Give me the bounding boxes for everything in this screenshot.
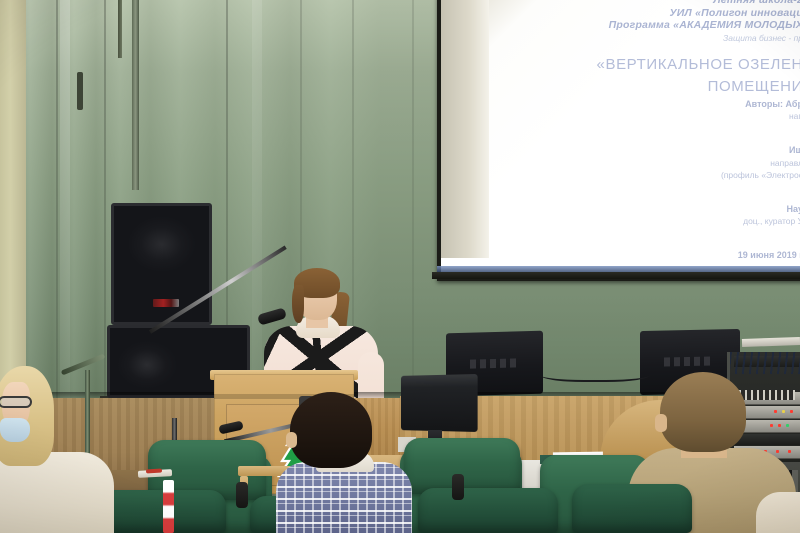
status-led [774, 410, 777, 413]
person-ear [286, 432, 297, 448]
slide-title-line-1: «ВЕРТИКАЛЬНОЕ ОЗЕЛЕН [441, 54, 800, 76]
curtain-highlight [252, 0, 262, 400]
status-led [776, 450, 779, 453]
curtain-beige-panel [0, 0, 26, 400]
slide-supervisor-line-1: направл [441, 157, 800, 169]
slide-title-line-2: ПОМЕЩЕНИ [441, 76, 800, 98]
rack-unit [734, 434, 800, 445]
slide-authors-sub: нап [441, 110, 800, 122]
status-led [770, 424, 773, 427]
face-mask [0, 418, 30, 442]
slide-advisor-line: доц., куратор У [441, 215, 800, 227]
status-led [786, 424, 789, 427]
desktop-monitor [401, 374, 478, 432]
presenter-hair-side [292, 285, 304, 323]
slide-date: 19 июня 2019 г [441, 249, 800, 262]
slide-subtitle: Защита бизнес - пр [441, 32, 800, 44]
chair-armrest [236, 482, 248, 508]
person-hair [290, 392, 372, 468]
rack-cabling [730, 352, 800, 374]
status-led [790, 410, 793, 413]
person-hair [660, 372, 746, 452]
wall-latch [77, 72, 83, 110]
curtain-fold [104, 0, 106, 400]
status-led [782, 410, 785, 413]
curtain-fold [56, 0, 58, 400]
audience-person-corner [756, 492, 800, 533]
status-led [788, 450, 791, 453]
striped-marker-pole [163, 480, 174, 533]
curtain-fold [412, 0, 414, 400]
projection-screen-bottom-edge [432, 272, 800, 279]
person-torso [276, 462, 412, 533]
eyeglasses-icon [0, 396, 32, 408]
status-led [778, 424, 781, 427]
curtain-highlight [60, 0, 70, 400]
slide-advisor-label: Нау [441, 203, 800, 216]
slide-supervisor-line-2: (профиль «Электрос [441, 169, 800, 181]
audience-chair [572, 484, 692, 533]
slide-header-line-3: Программа «АКАДЕМИЯ МОЛОДЫХ [441, 19, 800, 32]
conference-presentation-photo: Летняя школа-2 УИЛ «Полигон инноваци Про… [0, 0, 800, 533]
slide-header-line-2: УИЛ «Полигон инноваци [441, 7, 800, 20]
slide-authors-label: Авторы: Абр [441, 98, 800, 111]
audience-chair [418, 488, 558, 533]
presentation-slide: Летняя школа-2 УИЛ «Полигон инноваци Про… [441, 0, 800, 266]
speaker-brand-logo [664, 357, 712, 367]
speaker-brand-logo [153, 299, 179, 307]
chair-armrest [452, 474, 464, 500]
wall-pipe [118, 0, 122, 58]
audience-chair [96, 490, 226, 533]
wall-pipe [132, 0, 139, 190]
person-ear [655, 414, 667, 432]
speaker-brand-logo [470, 358, 518, 368]
slide-supervisor-name: Иш [441, 144, 800, 157]
